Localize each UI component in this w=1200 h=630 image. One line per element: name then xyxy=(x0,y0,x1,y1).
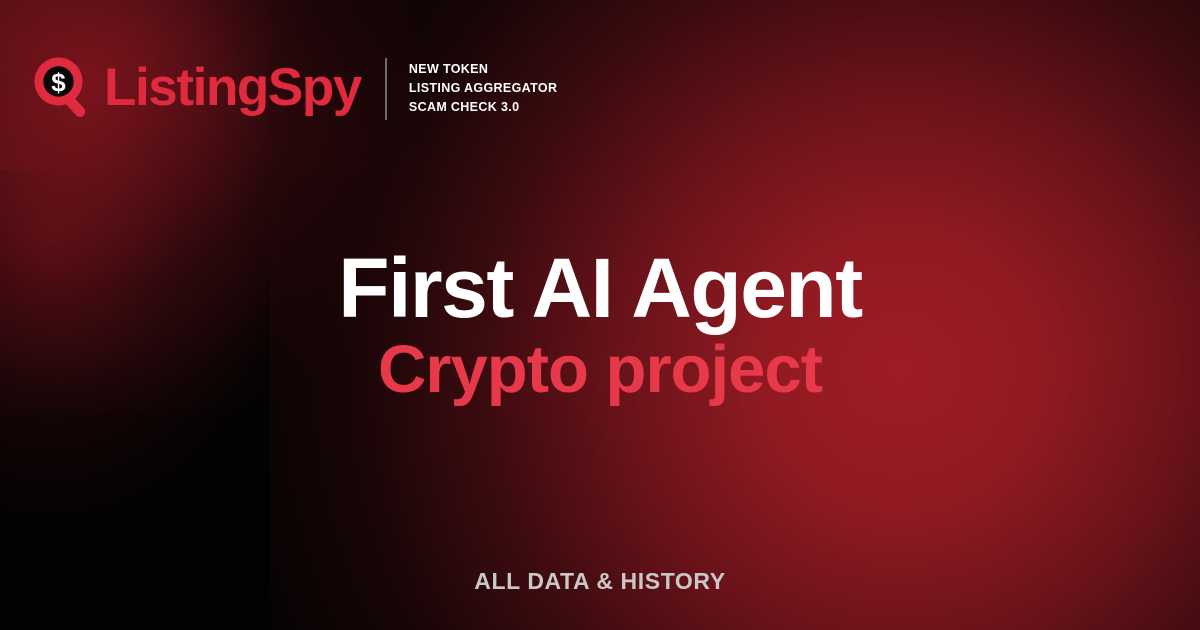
hero-headline: First AI Agent xyxy=(0,246,1200,332)
svg-text:$: $ xyxy=(51,67,66,97)
header-divider xyxy=(385,58,387,120)
footer-block: ALL DATA & HISTORY xyxy=(0,568,1200,595)
tagline-line-2: LISTING AGGREGATOR xyxy=(409,81,557,95)
hero-subheadline: Crypto project xyxy=(0,336,1200,404)
brand-tagline: NEW TOKEN LISTING AGGREGATOR SCAM CHECK … xyxy=(409,60,557,117)
footer-caption: ALL DATA & HISTORY xyxy=(474,568,725,595)
hero-text-block: First AI Agent Crypto project xyxy=(0,246,1200,404)
tagline-line-3: SCAM CHECK 3.0 xyxy=(409,100,519,114)
brand-header: $ ListingSpy NEW TOKEN LISTING AGGREGATO… xyxy=(33,56,557,120)
brand-wordmark: ListingSpy xyxy=(104,61,361,114)
promo-banner: $ ListingSpy NEW TOKEN LISTING AGGREGATO… xyxy=(0,0,1200,630)
magnifier-dollar-icon: $ xyxy=(33,56,95,120)
tagline-line-1: NEW TOKEN xyxy=(409,62,488,76)
